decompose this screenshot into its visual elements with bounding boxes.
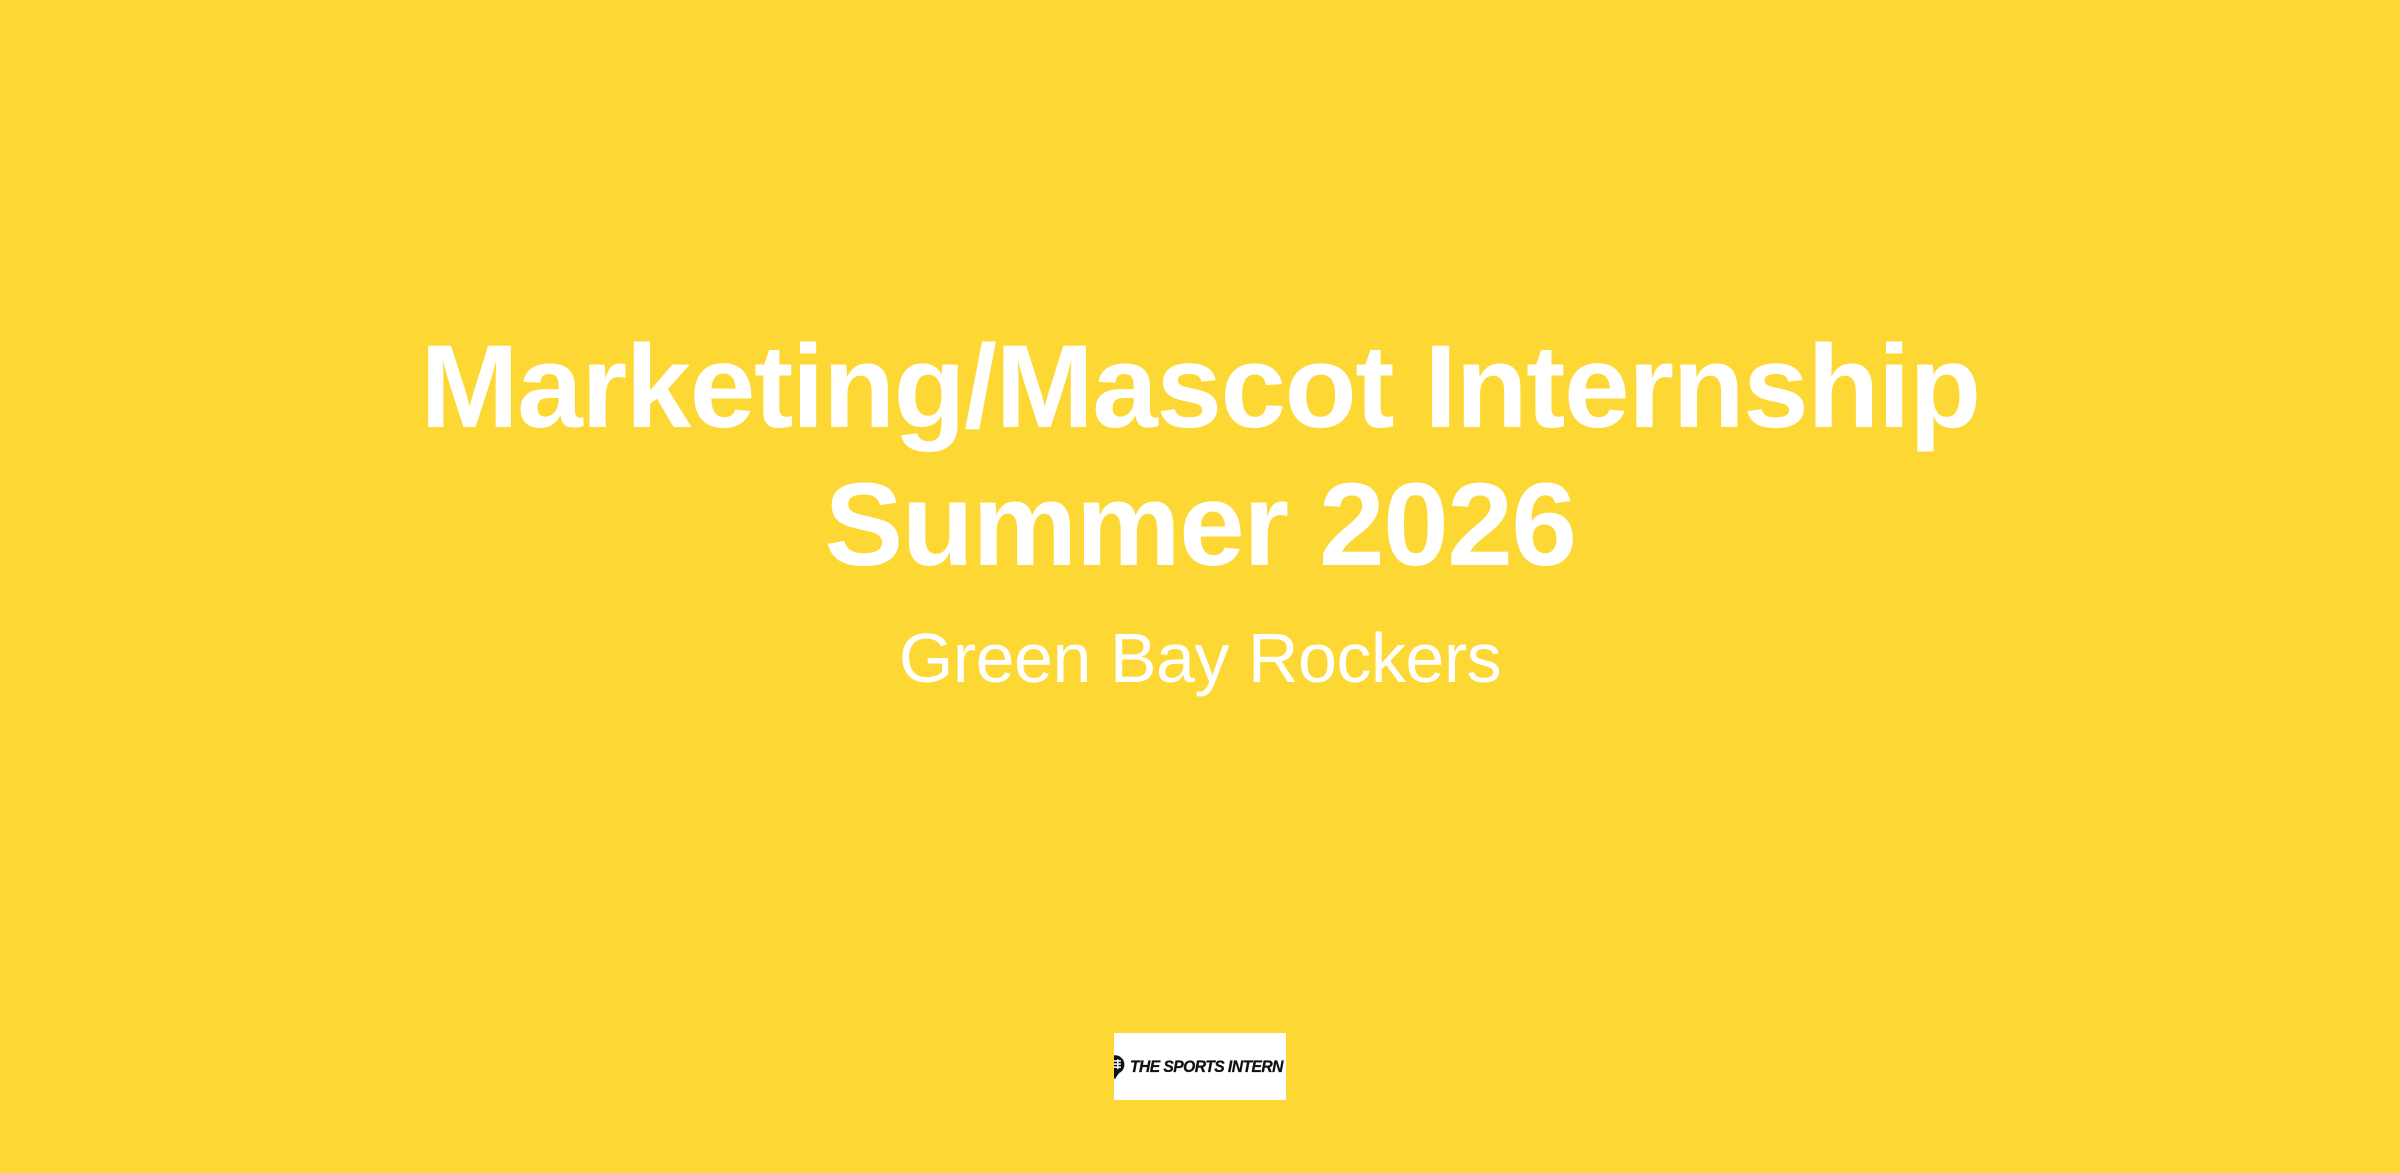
headline-line-1: Marketing/Mascot Internship bbox=[120, 318, 2280, 456]
sports-badge-icon bbox=[1114, 1054, 1126, 1080]
page-title: Marketing/Mascot Internship Summer 2026 bbox=[120, 318, 2280, 594]
footer-logo: THE SPORTS INTERN bbox=[1114, 1033, 1286, 1100]
subtitle-block: Green Bay Rockers bbox=[0, 616, 2400, 700]
headline-line-2: Summer 2026 bbox=[120, 456, 2280, 594]
organization-name: Green Bay Rockers bbox=[120, 616, 2280, 700]
headline-block: Marketing/Mascot Internship Summer 2026 bbox=[0, 318, 2400, 594]
title-slide: Marketing/Mascot Internship Summer 2026 … bbox=[0, 0, 2400, 1173]
logo-inner: THE SPORTS INTERN bbox=[1114, 1054, 1286, 1080]
logo-wordmark: THE SPORTS INTERN bbox=[1130, 1057, 1283, 1077]
